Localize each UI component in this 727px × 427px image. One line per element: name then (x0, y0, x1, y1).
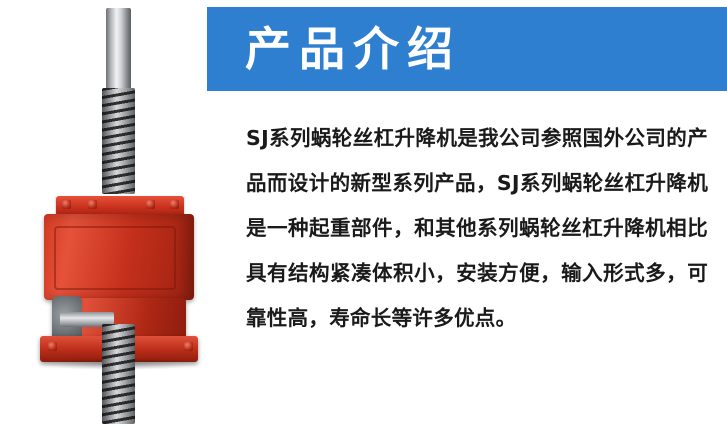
screw-thread-lower-icon (102, 324, 135, 424)
gearbox-housing (44, 214, 194, 300)
screw-shaft-top-icon (106, 8, 131, 92)
gearbox-top-plate (56, 196, 184, 216)
product-image: SJ系列蜗轮丝杠升降机产品照片 (0, 0, 207, 427)
bolt-icon (62, 200, 71, 209)
bolt-icon (170, 200, 179, 209)
bolt-icon (146, 200, 155, 209)
bolt-icon (48, 342, 57, 351)
page-title: 产品介绍 (207, 26, 461, 72)
product-intro-page: SJ系列蜗轮丝杠升降机产品照片 产品介绍 SJ系列蜗轮丝杠升降机是我公司参照国外… (0, 0, 727, 427)
bolt-icon (88, 200, 97, 209)
bolt-icon (184, 342, 193, 351)
screw-thread-upper-icon (102, 88, 135, 194)
product-description: SJ系列蜗轮丝杠升降机是我公司参照国外公司的产品而设计的新型系列产品，SJ系列蜗… (246, 116, 708, 341)
header-banner: 产品介绍 (207, 7, 727, 91)
